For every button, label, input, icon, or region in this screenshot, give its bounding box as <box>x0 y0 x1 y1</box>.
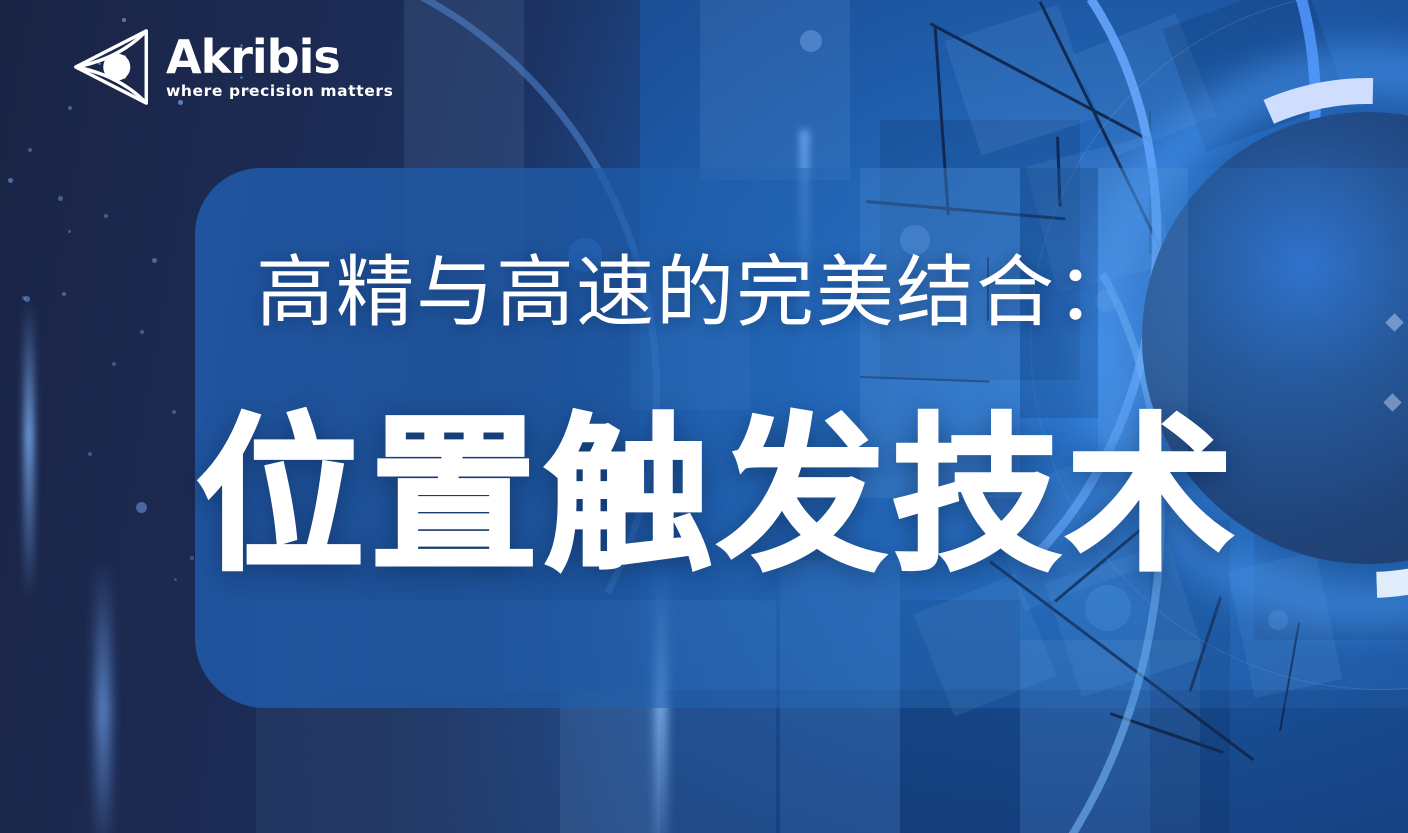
brand-name: Akribis <box>166 34 393 80</box>
content-panel <box>195 168 1408 708</box>
banner-canvas: 高精与高速的完美结合： 位置触发技术 Akribis where precisi… <box>0 0 1408 833</box>
akribis-triangle-logo-icon <box>70 26 152 108</box>
brand-logo[interactable]: Akribis where precision matters <box>70 26 393 108</box>
brand-tagline: where precision matters <box>166 84 393 100</box>
brand-logo-text: Akribis where precision matters <box>166 34 393 100</box>
